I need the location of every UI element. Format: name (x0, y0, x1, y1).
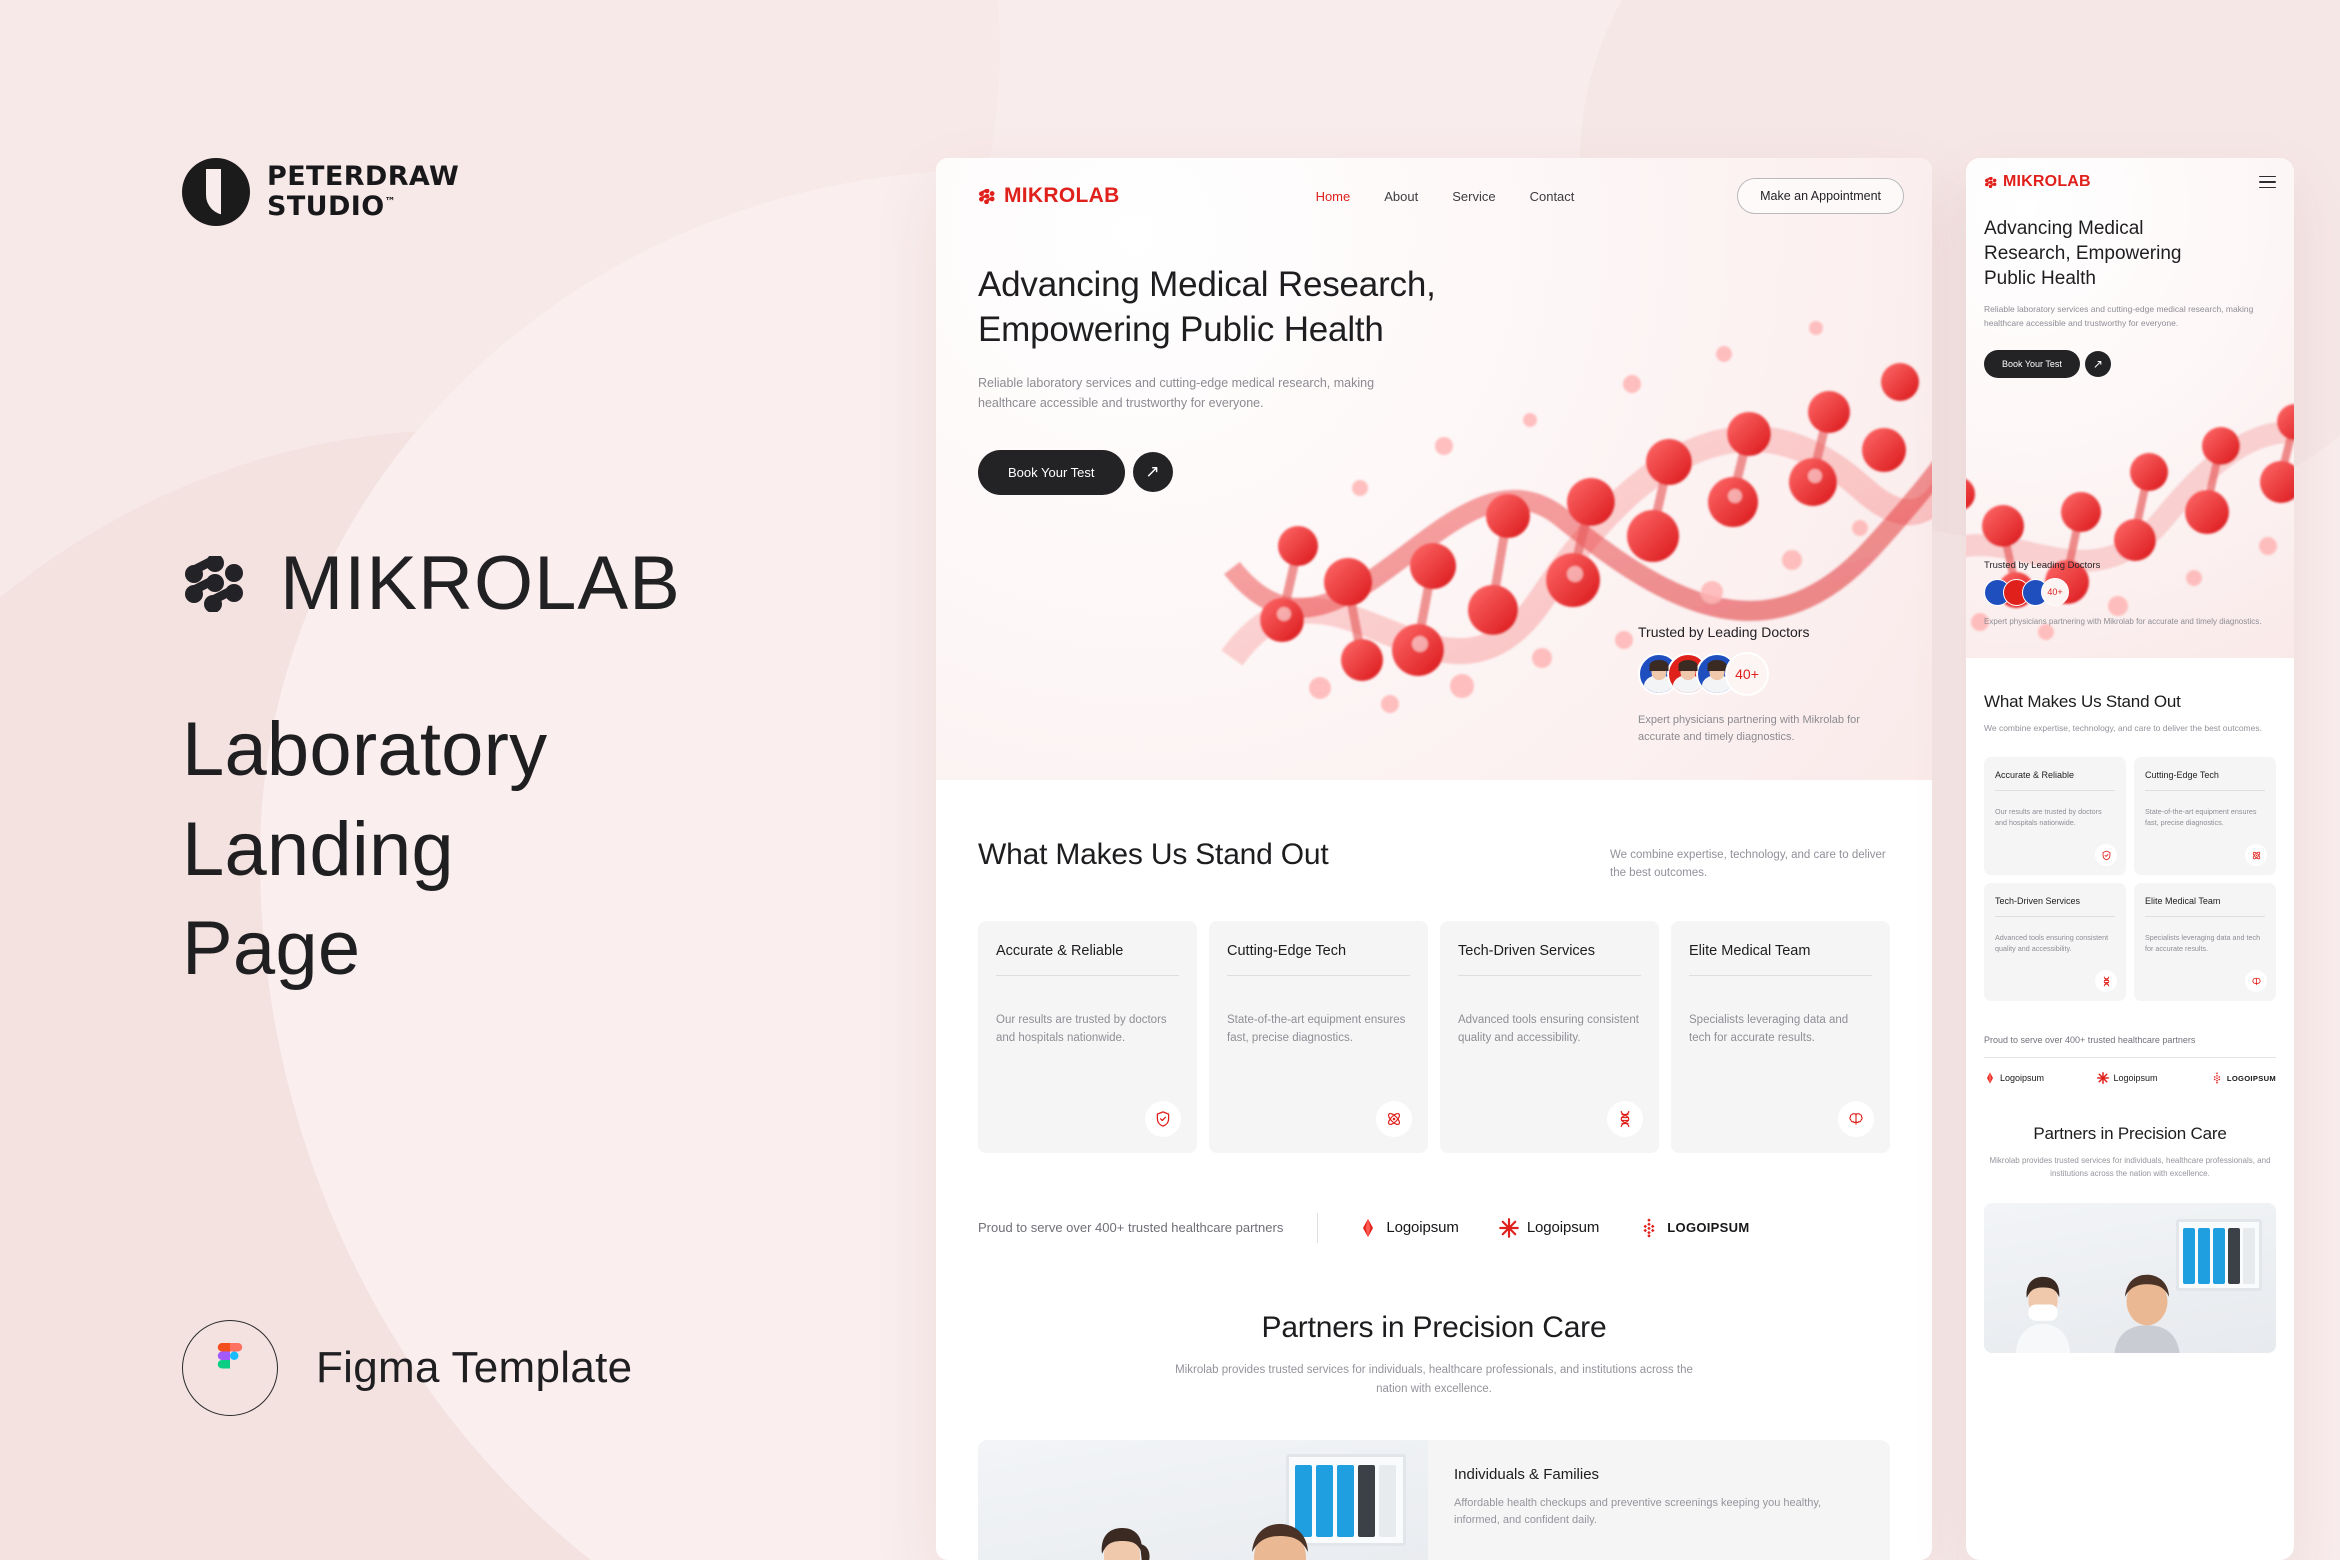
patient-illustration (2106, 1267, 2188, 1353)
feature-card[interactable]: Cutting-Edge Tech State-of-the-art equip… (1209, 921, 1428, 1153)
trademark-symbol: ™ (385, 195, 396, 208)
feature-card-title: Elite Medical Team (2145, 896, 2265, 906)
nav-item-contact[interactable]: Contact (1530, 189, 1575, 204)
file-shelf-illustration (2176, 1219, 2262, 1291)
partner-logo-name: Logoipsum (2113, 1073, 2157, 1083)
dna-icon (2095, 970, 2117, 992)
feature-card-title: Elite Medical Team (1689, 943, 1872, 959)
figma-icon (213, 1343, 247, 1393)
make-appointment-button[interactable]: Make an Appointment (1737, 178, 1904, 214)
peterdraw-p-mark-icon (182, 158, 250, 226)
precision-title: Partners in Precision Care (1984, 1124, 2276, 1144)
dna-icon (1607, 1101, 1643, 1137)
divider (1227, 975, 1410, 976)
feature-card-desc: Our results are trusted by doctors and h… (996, 1012, 1179, 1048)
desktop-mockup: MIKROLAB Home About Service Contact Make… (936, 158, 1932, 1560)
precision-section: Partners in Precision Care Mikrolab prov… (1984, 1084, 2276, 1180)
features-title: What Makes Us Stand Out (1984, 658, 2276, 712)
hero-title: Advancing MedicalResearch, EmpoweringPub… (1984, 216, 2276, 291)
mikrolab-molecule-icon (182, 556, 244, 612)
feature-card-grid: Accurate & Reliable Our results are trus… (1984, 757, 2276, 1001)
doctor-avatar-group: 40+ (1638, 652, 1888, 696)
feature-card[interactable]: Tech-Driven Services Advanced tools ensu… (1440, 921, 1659, 1153)
feature-card-desc: Specialists leveraging data and tech for… (2145, 933, 2265, 955)
partner-logo-name: Logoipsum (1527, 1219, 1599, 1236)
nav-item-home[interactable]: Home (1316, 189, 1351, 204)
trusted-title: Trusted by Leading Doctors (1984, 560, 2276, 571)
partners-text: Proud to serve over 400+ trusted healthc… (1984, 1035, 2276, 1045)
hero-subtitle: Reliable laboratory services and cutting… (1984, 303, 2276, 329)
doctor-avatar-group: 40+ (1984, 578, 2276, 606)
peterdraw-studio-logo: PETERDRAW STUDIO™ (182, 158, 459, 226)
peterdraw-studio-wordmark: PETERDRAW STUDIO™ (267, 162, 459, 222)
feature-card[interactable]: Tech-Driven Services Advanced tools ensu… (1984, 883, 2126, 1001)
doctor-illustration (1074, 1510, 1170, 1560)
promo-title: Individuals & Families (1454, 1466, 1862, 1483)
feature-card-desc: State-of-the-art equipment ensures fast,… (2145, 807, 2265, 829)
atom-icon (2245, 844, 2267, 866)
nav-item-service[interactable]: Service (1452, 189, 1495, 204)
book-your-test-button[interactable]: Book Your Test (1984, 350, 2080, 378)
starburst-logo-icon (2097, 1072, 2109, 1084)
hero-copy: Advancing Medical Research,Empowering Pu… (936, 214, 1496, 495)
feature-card-desc: Our results are trusted by doctors and h… (1995, 807, 2115, 829)
atom-icon (1376, 1101, 1412, 1137)
brain-icon (2245, 970, 2267, 992)
mobile-hero-copy: Advancing MedicalResearch, EmpoweringPub… (1966, 192, 2294, 378)
divider (1984, 1057, 2276, 1058)
feature-card-desc: Advanced tools ensuring consistent quali… (1458, 1012, 1641, 1048)
partner-logo[interactable]: LOGOIPSUM (2211, 1072, 2276, 1084)
feature-card-desc: State-of-the-art equipment ensures fast,… (1227, 1012, 1410, 1048)
showcase-left-panel: PETERDRAW STUDIO™ MIKROLAB (0, 0, 930, 1560)
lattice-logo-icon (2211, 1072, 2223, 1084)
partner-logo-list: Logoipsum Logoipsum (1984, 1072, 2276, 1084)
mikrolab-brand-lockup: MIKROLAB (182, 540, 681, 627)
feature-card-desc: Advanced tools ensuring consistent quali… (1995, 933, 2115, 955)
feature-card-title: Tech-Driven Services (1458, 943, 1641, 959)
mobile-mockup: MIKROLAB Advancing MedicalResearch, Empo… (1966, 158, 2294, 1560)
site-logo-text: MIKROLAB (2003, 173, 2091, 191)
partner-logo[interactable]: Logoipsum (2097, 1072, 2157, 1084)
showcase-headline: LaboratoryLandingPage (182, 700, 547, 999)
feature-card[interactable]: Elite Medical Team Specialists leveragin… (2134, 883, 2276, 1001)
site-logo[interactable]: MIKROLAB (1984, 173, 2091, 191)
figma-template-label: Figma Template (316, 1343, 632, 1393)
mobile-navbar: MIKROLAB (1966, 158, 2294, 192)
feature-card-desc: Specialists leveraging data and tech for… (1689, 1012, 1872, 1048)
studio-name-line-2: STUDIO™ (267, 192, 459, 222)
feature-card-grid: Accurate & Reliable Our results are trus… (978, 921, 1890, 1153)
feature-card-title: Accurate & Reliable (1995, 770, 2115, 780)
partner-logo-name: LOGOIPSUM (2227, 1074, 2276, 1083)
divider (1317, 1213, 1318, 1243)
features-note: We combine expertise, technology, and ca… (1610, 838, 1890, 883)
patient-illustration (1228, 1516, 1332, 1560)
partner-logo[interactable]: Logoipsum (1984, 1072, 2044, 1084)
arrow-up-right-icon[interactable]: ↗ (2085, 351, 2111, 377)
partners-strip: Proud to serve over 400+ trusted healthc… (978, 1213, 1890, 1249)
mikrolab-molecule-icon (1984, 177, 1997, 188)
features-note: We combine expertise, technology, and ca… (1984, 722, 2276, 735)
desktop-hero-section: MIKROLAB Home About Service Contact Make… (936, 158, 1932, 780)
trusted-doctors-block: Trusted by Leading Doctors 40+ Expert ph… (1638, 624, 1888, 746)
trusted-doctors-block: Trusted by Leading Doctors 40+ Expert ph… (1984, 560, 2276, 628)
precision-title: Partners in Precision Care (978, 1311, 1890, 1345)
partner-logo[interactable]: Logoipsum (1358, 1218, 1458, 1238)
mikrolab-molecule-icon (978, 189, 995, 204)
partner-logo-name: Logoipsum (1386, 1219, 1458, 1236)
lattice-logo-icon (1639, 1218, 1659, 1238)
promo-copy: Individuals & Families Affordable health… (1428, 1440, 1890, 1560)
partner-logo-list: Logoipsum Logoipsum (1358, 1218, 1749, 1238)
book-your-test-button[interactable]: Book Your Test (978, 450, 1125, 495)
partner-logo-name: Logoipsum (2000, 1073, 2044, 1083)
partners-text: Proud to serve over 400+ trusted healthc… (978, 1220, 1283, 1235)
hero-button-group: Book Your Test ↗ (1984, 350, 2276, 378)
poster-canvas: PETERDRAW STUDIO™ MIKROLAB (0, 0, 2340, 1560)
starburst-logo-icon (1499, 1218, 1519, 1238)
precision-subtitle: Mikrolab provides trusted services for i… (1174, 1361, 1694, 1400)
hero-subtitle: Reliable laboratory services and cutting… (978, 374, 1388, 414)
partner-logo-name: LOGOIPSUM (1667, 1220, 1749, 1235)
trusted-note: Expert physicians partnering with Mikrol… (1984, 616, 2276, 628)
mobile-hero-section: MIKROLAB Advancing MedicalResearch, Empo… (1966, 158, 2294, 658)
site-logo[interactable]: MIKROLAB (978, 184, 1120, 208)
features-title: What Makes Us Stand Out (978, 838, 1329, 872)
studio-name-line-1: PETERDRAW (267, 162, 459, 192)
figma-template-badge: Figma Template (182, 1320, 632, 1416)
feature-card-title: Accurate & Reliable (996, 943, 1179, 959)
trusted-title: Trusted by Leading Doctors (1638, 624, 1888, 640)
site-logo-text: MIKROLAB (1004, 184, 1120, 208)
divider (1995, 916, 2115, 917)
diamond-logo-icon (1984, 1072, 1996, 1084)
nav-item-about[interactable]: About (1384, 189, 1418, 204)
features-header: What Makes Us Stand Out We combine exper… (978, 780, 1890, 883)
brain-icon (1838, 1101, 1874, 1137)
shield-check-icon (2095, 844, 2117, 866)
precision-subtitle: Mikrolab provides trusted services for i… (1984, 1154, 2276, 1180)
feature-card-title: Cutting-Edge Tech (1227, 943, 1410, 959)
feature-card[interactable]: Accurate & Reliable Our results are trus… (1984, 757, 2126, 875)
divider (2145, 916, 2265, 917)
desktop-features-section: What Makes Us Stand Out We combine exper… (936, 780, 1932, 1560)
feature-card[interactable]: Cutting-Edge Tech State-of-the-art equip… (2134, 757, 2276, 875)
hamburger-menu-icon[interactable] (2259, 172, 2276, 192)
divider (1458, 975, 1641, 976)
doctor-illustration (2004, 1261, 2082, 1353)
feature-card[interactable]: Elite Medical Team Specialists leveragin… (1671, 921, 1890, 1153)
feature-card[interactable]: Accurate & Reliable Our results are trus… (978, 921, 1197, 1153)
precision-section: Partners in Precision Care Mikrolab prov… (978, 1249, 1890, 1400)
clinic-photo (978, 1440, 1428, 1560)
hero-title: Advancing Medical Research,Empowering Pu… (978, 262, 1496, 352)
partner-logo[interactable]: Logoipsum (1499, 1218, 1599, 1238)
promo-desc: Affordable health checkups and preventiv… (1454, 1495, 1862, 1530)
doctor-count-badge: 40+ (2041, 578, 2069, 606)
mobile-features-section: What Makes Us Stand Out We combine exper… (1966, 658, 2294, 1353)
divider (1995, 790, 2115, 791)
desktop-navbar: MIKROLAB Home About Service Contact Make… (936, 158, 1932, 214)
divider (996, 975, 1179, 976)
doctor-count-badge: 40+ (1725, 652, 1769, 696)
divider (2145, 790, 2265, 791)
clinic-photo (1984, 1203, 2276, 1353)
arrow-up-right-icon[interactable]: ↗ (1133, 452, 1173, 492)
promo-card[interactable]: Individuals & Families Affordable health… (978, 1440, 1890, 1560)
feature-card-title: Tech-Driven Services (1995, 896, 2115, 906)
figma-logo-circle (182, 1320, 278, 1416)
primary-nav: Home About Service Contact (1316, 189, 1575, 204)
trusted-note: Expert physicians partnering with Mikrol… (1638, 712, 1888, 746)
shield-check-icon (1145, 1101, 1181, 1137)
divider (1689, 975, 1872, 976)
feature-card-title: Cutting-Edge Tech (2145, 770, 2265, 780)
partner-logo[interactable]: LOGOIPSUM (1639, 1218, 1749, 1238)
mikrolab-brand-name: MIKROLAB (280, 540, 681, 627)
diamond-logo-icon (1358, 1218, 1378, 1238)
hero-button-group: Book Your Test ↗ (978, 450, 1496, 495)
